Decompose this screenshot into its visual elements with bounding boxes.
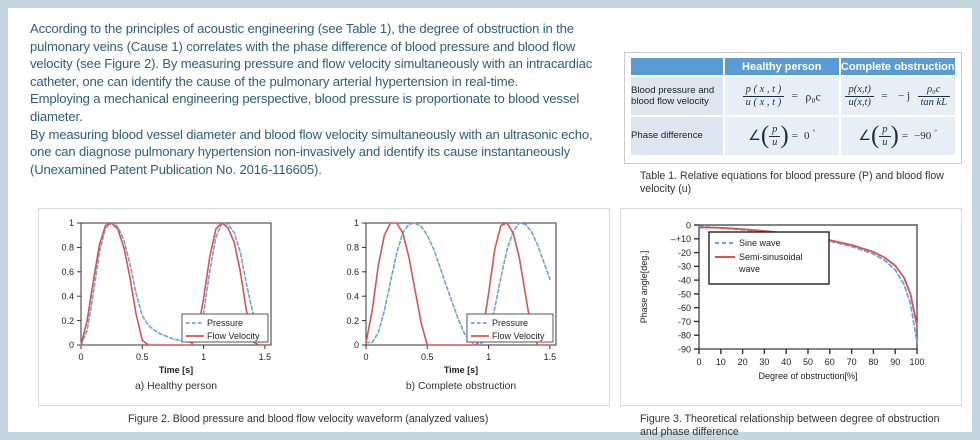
fraction-denominator: u(x,t) [845, 97, 873, 109]
degree-symbol: ° [812, 129, 815, 136]
chart-text: -90 [678, 344, 691, 354]
body-text-block: According to the principles of acoustic … [30, 20, 615, 178]
chart-text: 0 [686, 220, 691, 230]
fraction-p-over-u: p(x,t) u(x,t) [845, 84, 873, 109]
body-paragraph-3: By measuring blood vessel diameter and b… [30, 126, 615, 179]
degree-symbol: ° [934, 129, 937, 136]
chart-text: Phase angle[deg.] [639, 251, 649, 324]
paren-open: ( [871, 127, 879, 145]
table1-rowlabel-phase: Phase difference [631, 116, 724, 155]
table1-panel: Healthy person Complete obstruction Bloo… [624, 52, 962, 164]
angle-icon: ∠ [748, 128, 761, 145]
chart-text: Degree of obstruction[%] [758, 371, 857, 381]
equals-sign: = [899, 130, 911, 142]
table1-eq-obstruction-phase: ∠(pu)=−90° [840, 116, 956, 155]
chart-text: wave [738, 264, 760, 274]
chart-text: 0 [363, 352, 368, 362]
chart-text: -50 [678, 289, 691, 299]
chart-text: a) Healthy person [135, 381, 217, 392]
fraction-p-over-u: pu [769, 124, 780, 149]
chart-text: Semi-sinusoidal [739, 252, 803, 262]
chart-text: 100 [909, 357, 924, 367]
table1-rowlabel-ratio: Blood pressure and blood flow velocity [631, 76, 724, 116]
chart-text: 0.6 [61, 267, 74, 277]
table1-eq-healthy-phase: ∠(pu)=0° [724, 116, 840, 155]
chart-text: -40 [678, 276, 691, 286]
fraction-denominator: u ( x , t ) [743, 97, 785, 109]
fraction-denominator: u [769, 137, 780, 149]
phase-value-healthy: 0 [801, 130, 813, 142]
chart-text: –+10 [671, 234, 691, 244]
chart-text: 0 [69, 340, 74, 350]
phase-value-obstruction: −90 [911, 130, 934, 142]
chart-text: 1 [69, 218, 74, 228]
chart-text: -80 [678, 331, 691, 341]
chart-text: 0.2 [61, 316, 74, 326]
chart-text: 1 [354, 218, 359, 228]
table1-header-row: Healthy person Complete obstruction [631, 58, 955, 76]
chart-text: Time [s] [159, 365, 193, 375]
paren-close: ) [891, 127, 899, 145]
chart-text: 50 [803, 357, 813, 367]
chart-text: 1.5 [259, 352, 272, 362]
chart-text: Time [s] [444, 365, 478, 375]
chart-text: -60 [678, 303, 691, 313]
table1-col-healthy: Healthy person [724, 58, 840, 76]
angle-icon: ∠ [858, 128, 871, 145]
fraction-numerator: ρ₀c [918, 84, 951, 97]
figure2-chart-a: 00.20.40.60.8100.511.5Time [s]a) Healthy… [61, 218, 271, 392]
body-paragraph-1: According to the principles of acoustic … [30, 20, 615, 90]
table1-corner-cell [631, 58, 724, 76]
table1-eq-obstruction-ratio: p(x,t) u(x,t) = − j ρ₀c tan kL [840, 76, 956, 116]
chart-text: 0.8 [61, 243, 74, 253]
figure2-chart-b: 00.20.40.60.8100.511.5Time [s]b) Complet… [346, 218, 556, 392]
equals-sign: = [878, 90, 890, 102]
figure2-caption: Figure 2. Blood pressure and blood flow … [128, 413, 548, 426]
minus-j-term: − j [895, 90, 913, 102]
figure3-caption: Figure 3. Theoretical relationship betwe… [640, 413, 960, 438]
chart-text: 70 [847, 357, 857, 367]
fraction-numerator: p [879, 124, 890, 137]
chart-text: 60 [825, 357, 835, 367]
table-row: Phase difference ∠(pu)=0° ∠(pu)=−90° [631, 116, 955, 155]
rho-zero-c-term: ρ₀c [805, 89, 821, 103]
slide-frame: According to the principles of acoustic … [0, 0, 980, 440]
chart-text: 0.5 [421, 352, 434, 362]
fraction-numerator: p(x,t) [845, 84, 873, 97]
chart-text: -70 [678, 317, 691, 327]
chart-text: -30 [678, 262, 691, 272]
figure3-panel: 0–+10-20-30-40-50-60-70-80-9001020304050… [620, 208, 962, 406]
fraction-denominator: u [879, 137, 890, 149]
chart-text: 10 [716, 357, 726, 367]
chart-text: 0.6 [346, 267, 359, 277]
chart-text: -20 [678, 248, 691, 258]
equals-sign: = [789, 90, 801, 102]
chart-text: Pressure [207, 318, 243, 328]
chart-text: Sine wave [739, 238, 781, 248]
fraction-numerator: p [769, 124, 780, 137]
slide-content: According to the principles of acoustic … [8, 8, 972, 432]
chart-text: 0.5 [136, 352, 149, 362]
figure2-svg: 00.20.40.60.8100.511.5Time [s]a) Healthy… [39, 209, 609, 405]
table1: Healthy person Complete obstruction Bloo… [631, 58, 955, 155]
chart-text: 0.8 [346, 243, 359, 253]
body-paragraph-2: Employing a mechanical engineering persp… [30, 90, 615, 125]
chart-text: Pressure [492, 318, 528, 328]
equals-sign: = [789, 130, 801, 142]
chart-text: 40 [781, 357, 791, 367]
chart-text: Flow Velocity [492, 331, 545, 341]
table1-col-obstruction: Complete obstruction [840, 58, 956, 76]
chart-text: 1 [486, 352, 491, 362]
table1-caption: Table 1. Relative equations for blood pr… [640, 170, 970, 195]
figure3-svg: 0–+10-20-30-40-50-60-70-80-9001020304050… [621, 209, 961, 405]
chart-text: b) Complete obstruction [406, 381, 517, 392]
chart-text: 0.2 [346, 316, 359, 326]
chart-text: 0 [354, 340, 359, 350]
table1-eq-healthy-ratio: p ( x , t ) u ( x , t ) = ρ₀c [724, 76, 840, 116]
paren-open: ( [761, 127, 769, 145]
fraction-denominator: tan kL [918, 97, 951, 109]
paren-close: ) [780, 127, 788, 145]
chart-text: 0.4 [61, 291, 74, 301]
chart-text: Flow Velocity [207, 331, 260, 341]
chart-text: 30 [759, 357, 769, 367]
fraction-rho-over-tankl: ρ₀c tan kL [918, 84, 951, 109]
chart-text: 1 [201, 352, 206, 362]
chart-text: 0 [696, 357, 701, 367]
chart-text: 90 [890, 357, 900, 367]
fraction-p-over-u: pu [879, 124, 890, 149]
figure2-panel: 00.20.40.60.8100.511.5Time [s]a) Healthy… [38, 208, 610, 406]
table-row: Blood pressure and blood flow velocity p… [631, 76, 955, 116]
chart-text: 1.5 [544, 352, 557, 362]
chart-text: 20 [738, 357, 748, 367]
chart-text: 0.4 [346, 291, 359, 301]
fraction-p-over-u: p ( x , t ) u ( x , t ) [743, 84, 785, 109]
chart-text: 80 [868, 357, 878, 367]
chart-text: 0 [78, 352, 83, 362]
fraction-numerator: p ( x , t ) [743, 84, 785, 97]
